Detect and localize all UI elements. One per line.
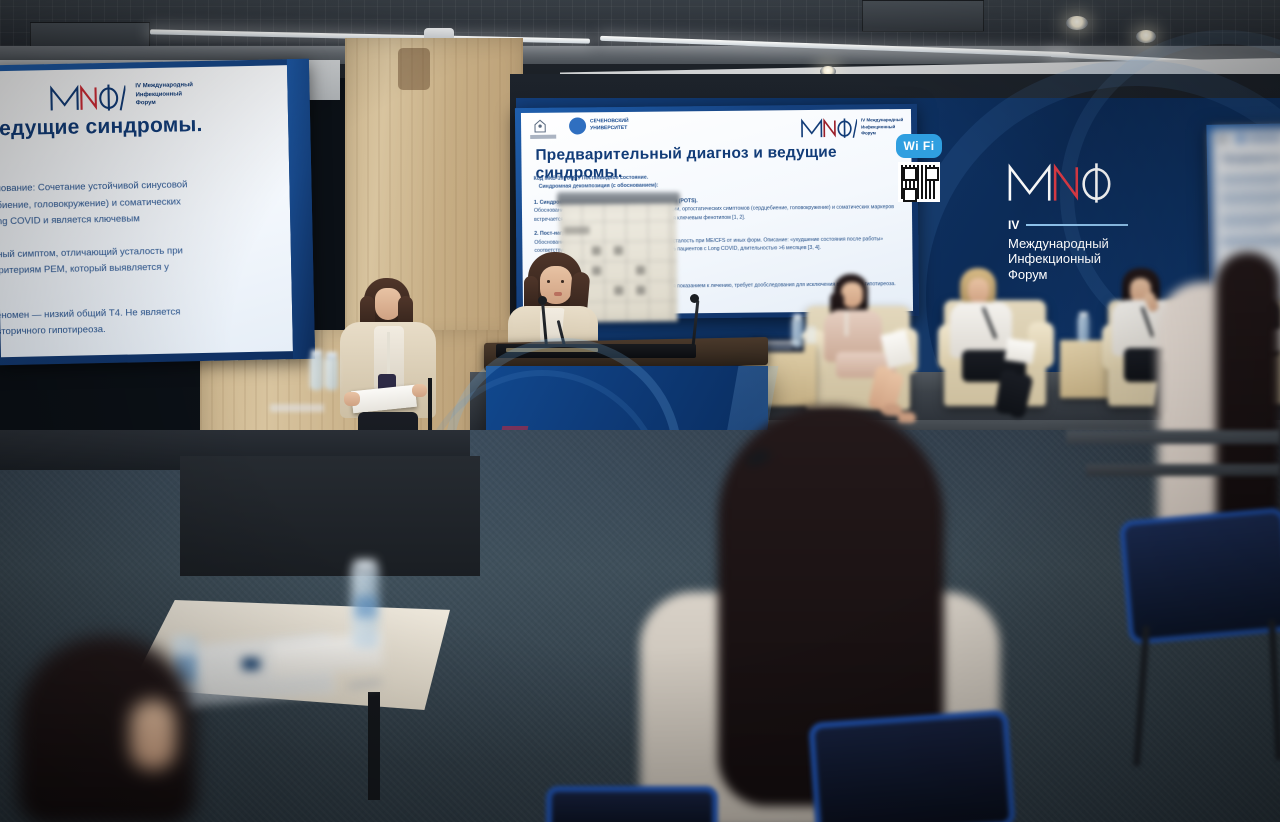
ceiling-vent-panel xyxy=(862,0,984,32)
left-riser xyxy=(180,456,480,576)
downlight xyxy=(1136,30,1156,43)
right-slide-body xyxy=(1220,174,1280,245)
university-crest-icon xyxy=(1218,134,1228,143)
table-leg xyxy=(368,692,380,800)
glass xyxy=(806,326,816,344)
downlight xyxy=(1066,16,1088,30)
right-slide-title: Предварител xyxy=(1222,153,1280,164)
papers-on-ledge xyxy=(270,404,324,412)
hand xyxy=(412,384,427,397)
backdrop-line-2: Инфекционный xyxy=(1008,251,1128,266)
mif-backdrop-caption: IV Международный Инфекционный Форум xyxy=(1008,218,1128,282)
conference-hall-photo: IV Международный Инфекционный Форум веду… xyxy=(0,0,1280,822)
eye xyxy=(547,280,550,283)
backdrop-line-3: Форум xyxy=(1008,267,1128,282)
left-slide-logo-subtitle: IV Международный Инфекционный Форум xyxy=(135,80,246,108)
wifi-sign: Wi Fi xyxy=(890,134,948,204)
item-num: 2. xyxy=(534,231,538,237)
chair-back xyxy=(1119,507,1280,645)
microphone-head xyxy=(690,294,699,303)
step-edge xyxy=(1066,430,1280,444)
hand xyxy=(344,392,360,406)
hair xyxy=(1216,252,1280,548)
eye xyxy=(561,280,564,283)
sechenov-logo-icon xyxy=(569,117,586,134)
flipchart-label xyxy=(564,226,590,234)
lanyard xyxy=(387,332,390,376)
step-edge xyxy=(1086,464,1280,476)
chair-back xyxy=(546,786,718,822)
mif-logo-left-slide xyxy=(47,81,126,115)
left-slide-body: основание: Сочетание устойчивой синусово… xyxy=(0,175,289,341)
crest-caption xyxy=(530,135,556,139)
mouth xyxy=(554,292,562,296)
backdrop-line-1: Международный xyxy=(1008,236,1128,251)
papers xyxy=(1005,338,1036,364)
shoe xyxy=(898,412,916,423)
wall-fixture xyxy=(398,48,430,90)
item-num: 1. xyxy=(534,200,538,206)
roman-numeral: IV xyxy=(1008,218,1019,232)
face xyxy=(968,278,989,303)
sechenov-logo-text xyxy=(1248,135,1280,143)
bottle-cap xyxy=(354,560,376,572)
university-crest-icon xyxy=(531,119,549,135)
water-bottle xyxy=(792,318,803,348)
sechenov-logo-text: СЕЧЕНОВСКИЙ УНИВЕРСИТЕТ xyxy=(590,118,646,132)
chair-back xyxy=(808,709,1016,822)
mif-logo-center-slide xyxy=(799,116,857,141)
bottle-label xyxy=(355,596,377,618)
water-bottle xyxy=(1078,316,1089,342)
qr-code-icon xyxy=(898,162,940,202)
wifi-icon: Wi Fi xyxy=(896,134,942,158)
badge xyxy=(242,658,260,670)
microphone-head xyxy=(538,296,547,305)
sechenov-logo-icon xyxy=(1236,134,1245,143)
left-screen-frame: IV Международный Инфекционный Форум веду… xyxy=(0,59,315,366)
left-slide-title: ведущие синдромы. xyxy=(0,112,266,142)
face xyxy=(841,282,863,308)
